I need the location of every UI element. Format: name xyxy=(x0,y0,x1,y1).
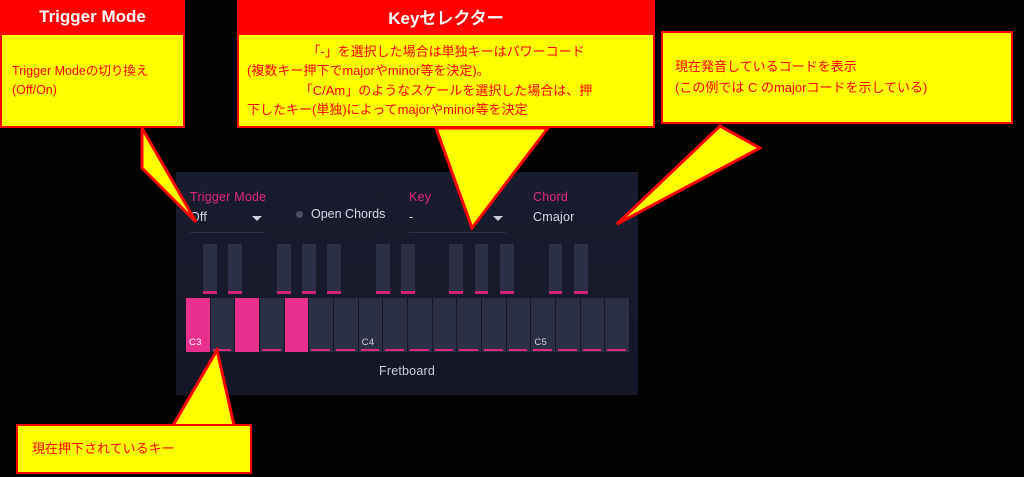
callout-pressed-keys-line-1: 現在押下されているキー xyxy=(32,440,236,459)
callout-key-selector: Keyセレクター 「-」を選択した場合は単独キーはパワーコード (複数キー押下で… xyxy=(237,0,655,128)
callout-key-line-4: 下したキー(単独)によってmajorやminor等を決定 xyxy=(247,100,645,120)
tail-pressed-keys xyxy=(168,350,236,434)
callout-key-line-1: 「-」を選択した場合は単独キーはパワーコード xyxy=(247,42,645,62)
callout-tails xyxy=(0,110,1024,460)
screenshot-root: Trigger Mode Off Open Chords Key - Chord xyxy=(0,0,1024,477)
callout-pressed-keys: 現在押下されているキー xyxy=(16,424,252,474)
tail-key-selector xyxy=(436,128,548,228)
callout-trigger-mode-body: Trigger Modeの切り換え (Off/On) xyxy=(0,33,185,128)
callout-key-selector-body: 「-」を選択した場合は単独キーはパワーコード (複数キー押下でmajorやmin… xyxy=(237,33,655,128)
tail-chord-display xyxy=(617,126,760,224)
callout-trigger-mode: Trigger Mode Trigger Modeの切り換え (Off/On) xyxy=(0,0,185,128)
callout-chord-display-body: 現在発音しているコードを表示 (この例では C のmajorコードを示している) xyxy=(661,31,1013,124)
callout-chord-line-1: 現在発音しているコードを表示 xyxy=(675,57,999,77)
callout-key-line-3: 「C/Am」のようなスケールを選択した場合は、押 xyxy=(247,81,645,101)
tail-trigger-mode xyxy=(142,128,196,222)
callout-key-selector-title: Keyセレクター xyxy=(237,0,655,33)
callout-pressed-keys-body: 現在押下されているキー xyxy=(16,424,252,474)
callout-key-line-2: (複数キー押下でmajorやminor等を決定)。 xyxy=(247,61,645,81)
callout-trigger-mode-line-1: Trigger Modeの切り換え xyxy=(12,62,173,80)
callout-trigger-mode-line-2: (Off/On) xyxy=(12,81,173,99)
callout-trigger-mode-title: Trigger Mode xyxy=(0,0,185,33)
callout-chord-display: 現在発音しているコードを表示 (この例では C のmajorコードを示している) xyxy=(661,31,1013,124)
callout-chord-line-2: (この例では C のmajorコードを示している) xyxy=(675,78,999,98)
